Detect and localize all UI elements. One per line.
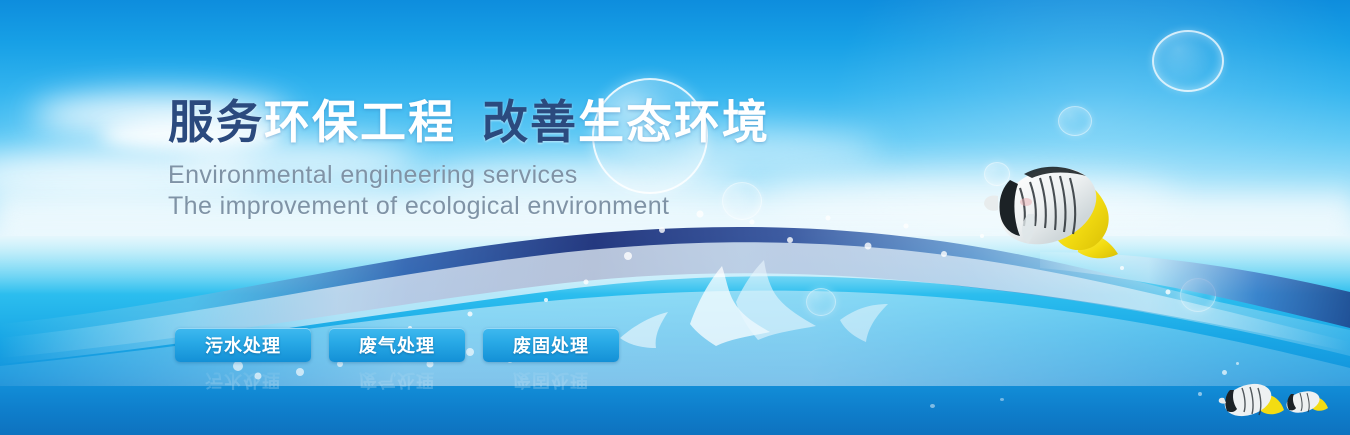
water-droplet bbox=[930, 404, 935, 408]
headline-dark-1: 服务 bbox=[168, 96, 264, 148]
headline-light-2: 生态环境 bbox=[578, 96, 770, 148]
water-droplet bbox=[1198, 392, 1202, 396]
subtitle-line-1: Environmental engineering services bbox=[168, 160, 868, 191]
fish-snout bbox=[1219, 398, 1226, 404]
fish-accent bbox=[1020, 198, 1032, 206]
water-droplet bbox=[1222, 370, 1227, 375]
bubble-ring-icon bbox=[1058, 106, 1092, 136]
button-slot: 废固处理 废固处理 bbox=[483, 328, 619, 362]
butterflyfish-small bbox=[1218, 378, 1288, 431]
hero-copy: 服务环保工程改善生态环境 Environmental engineering s… bbox=[168, 96, 868, 222]
bubble-ring-icon bbox=[1152, 30, 1224, 92]
headline-line-1: 服务环保工程改善生态环境 bbox=[168, 96, 868, 148]
button-slot: 污水处理 污水处理 bbox=[175, 328, 311, 362]
butterflyfish-tiny bbox=[1282, 386, 1330, 425]
wastewater-treatment-button[interactable]: 污水处理 bbox=[175, 328, 311, 362]
subtitle-line-2: The improvement of ecological environmen… bbox=[168, 191, 868, 222]
solid-waste-treatment-button[interactable]: 废固处理 bbox=[483, 328, 619, 362]
fish-snout bbox=[984, 195, 998, 210]
hero-banner: 服务环保工程改善生态环境 Environmental engineering s… bbox=[0, 0, 1350, 435]
headline-light-1: 环保工程 bbox=[264, 96, 456, 148]
butterflyfish-large bbox=[980, 138, 1130, 278]
service-button-row: 污水处理 污水处理 废气处理 废气处理 废固处理 废固处理 bbox=[175, 328, 637, 362]
headline-dark-2: 改善 bbox=[482, 96, 578, 148]
waste-gas-treatment-button[interactable]: 废气处理 bbox=[329, 328, 465, 362]
button-slot: 废气处理 废气处理 bbox=[329, 328, 465, 362]
water-droplet bbox=[1236, 362, 1239, 365]
water-droplet bbox=[1000, 398, 1004, 401]
